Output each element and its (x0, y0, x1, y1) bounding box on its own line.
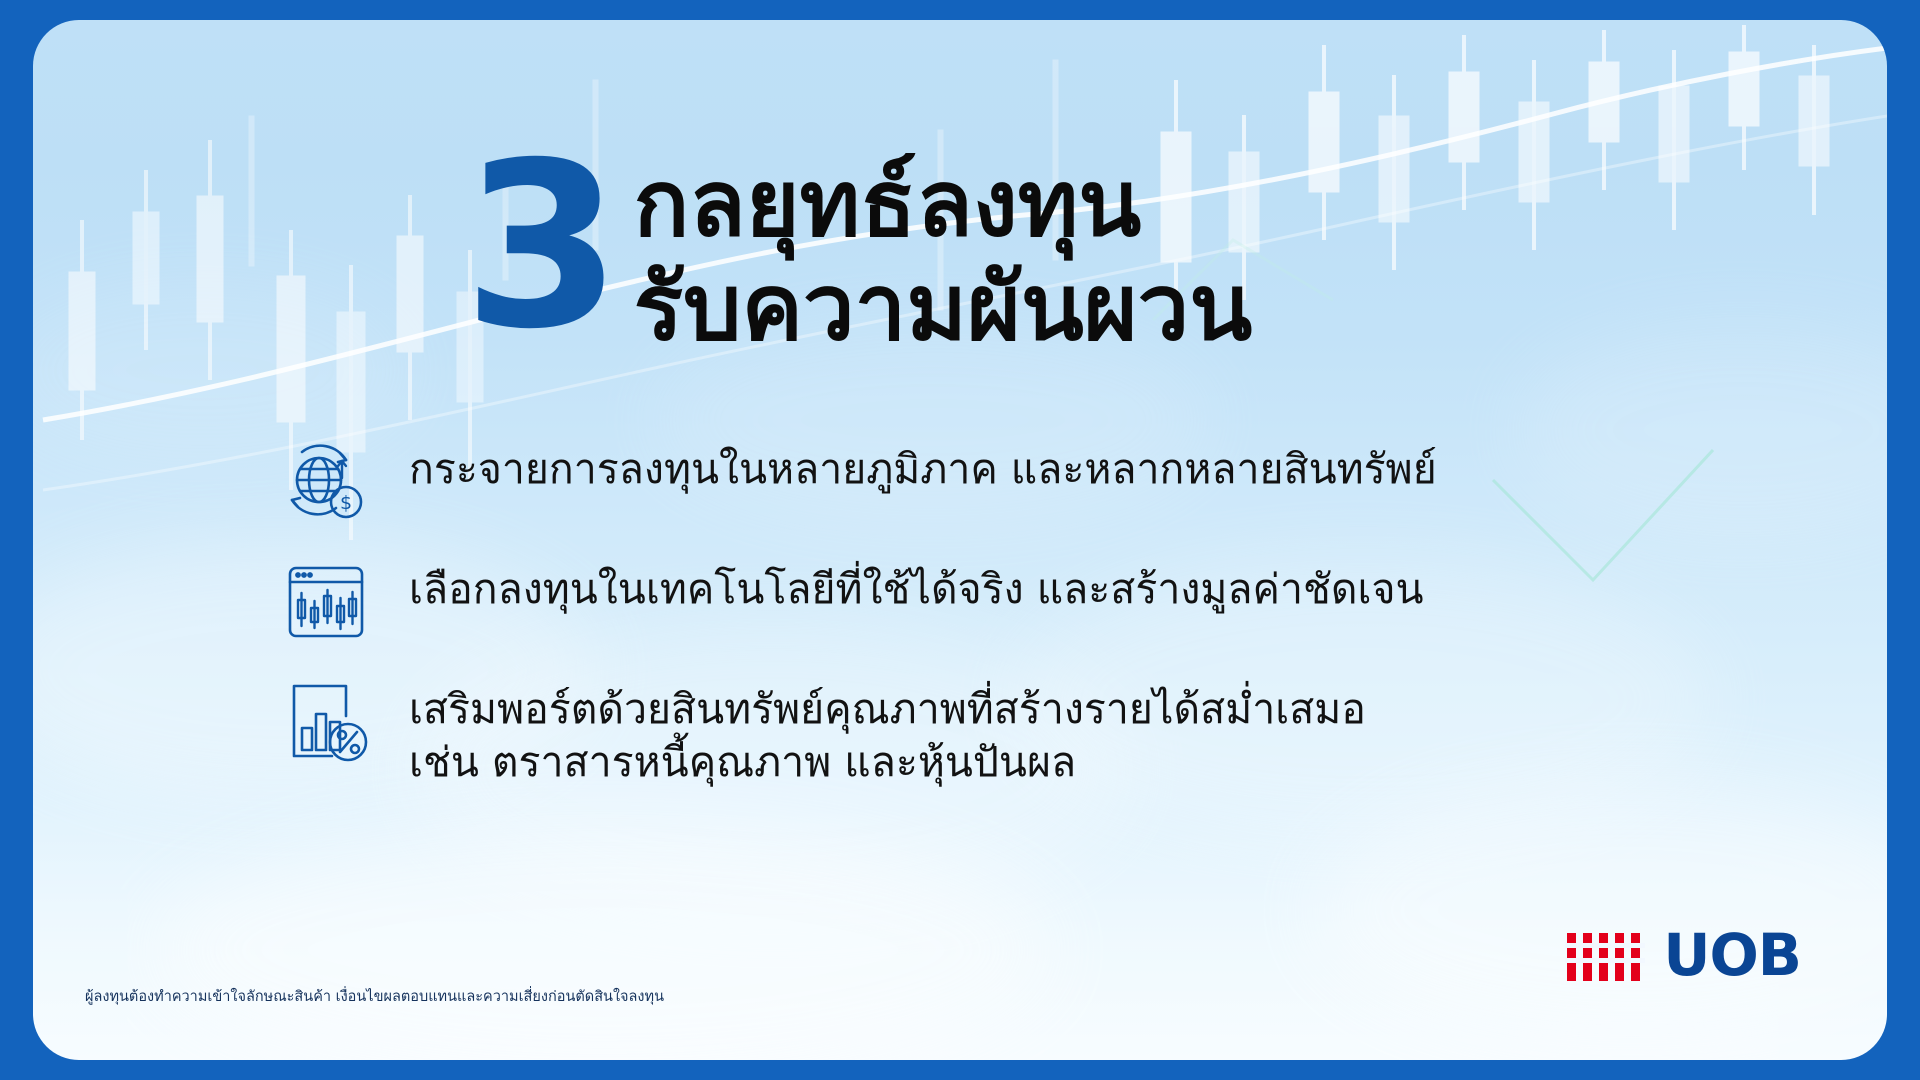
list-item-label: เลือกลงทุนในเทคโนโลยีที่ใช้ได้จริง และสร… (409, 555, 1424, 616)
list-item: เลือกลงทุนในเทคโนโลยีที่ใช้ได้จริง และสร… (279, 555, 1679, 649)
uob-wordmark: UOB (1663, 926, 1801, 984)
bar-chart-percent-icon (279, 675, 373, 769)
list-item: $ กระจายการลงทุนในหลายภูมิภาค และหลากหลา… (279, 435, 1679, 529)
headline-line-1: กลยุทธ์ลงทุน (634, 152, 1253, 256)
disclaimer-text: ผู้ลงทุนต้องทำความเข้าใจลักษณะสินค้า เงื… (85, 988, 664, 1008)
poster-root: 3 กลยุทธ์ลงทุน รับความผันผวน (0, 0, 1920, 1080)
cloud-blob (33, 280, 413, 460)
svg-text:$: $ (340, 492, 352, 514)
list-item: เสริมพอร์ตด้วยสินทรัพย์คุณภาพที่สร้างราย… (279, 675, 1679, 790)
strategy-list: $ กระจายการลงทุนในหลายภูมิภาค และหลากหลา… (279, 435, 1679, 816)
headline-line-2: รับความผันผวน (634, 256, 1253, 360)
uob-logo: UOB (1565, 926, 1801, 984)
uob-bars-icon (1565, 929, 1651, 981)
headline-text-block: กลยุทธ์ลงทุน รับความผันผวน (634, 152, 1253, 360)
uob-bars-mark (1565, 929, 1651, 981)
globe-dollar-icon: $ (279, 435, 373, 529)
list-item-label: กระจายการลงทุนในหลายภูมิภาค และหลากหลายส… (409, 435, 1437, 496)
sky-card: 3 กลยุทธ์ลงทุน รับความผันผวน (33, 20, 1887, 1060)
headline-number: 3 (463, 148, 616, 344)
candlestick-window-icon (279, 555, 373, 649)
list-item-label: เสริมพอร์ตด้วยสินทรัพย์คุณภาพที่สร้างราย… (409, 675, 1366, 790)
headline: 3 กลยุทธ์ลงทุน รับความผันผวน (463, 146, 1252, 360)
